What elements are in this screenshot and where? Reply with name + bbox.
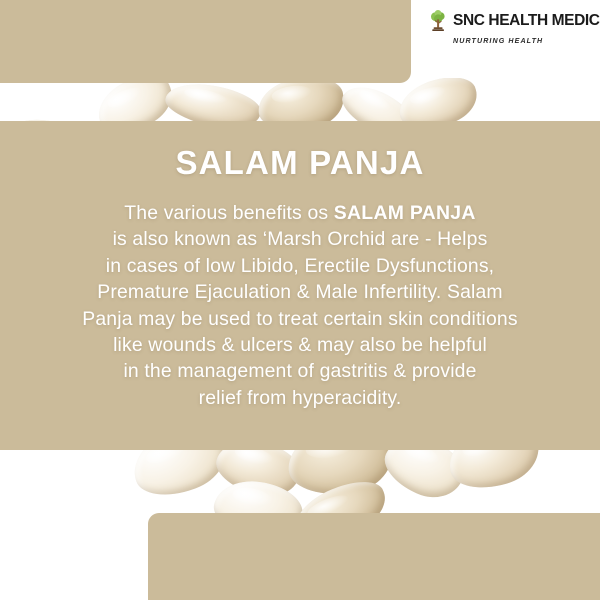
body-line: The various benefits os SALAM PANJA: [0, 200, 600, 226]
bottom-right-tan-block: [148, 513, 600, 600]
tree-icon: [428, 10, 449, 32]
logo-company-name: SNC HEALTH MEDICO®: [453, 12, 600, 29]
brand-logo: SNC HEALTH MEDICO® NURTURING HEALTH: [428, 10, 600, 48]
logo-tagline: NURTURING HEALTH: [453, 37, 543, 45]
page-title: SALAM PANJA: [0, 144, 600, 182]
logo-wordmark: SNC HEALTH MEDICO® NURTURING HEALTH: [453, 10, 600, 48]
body-line: Premature Ejaculation & Male Infertility…: [0, 279, 600, 305]
body-line: like wounds & ulcers & may also be helpf…: [0, 332, 600, 358]
top-left-tan-block: [0, 0, 411, 83]
body-paragraph: The various benefits os SALAM PANJAis al…: [0, 200, 600, 411]
body-line: in the management of gastritis & provide: [0, 358, 600, 384]
body-line: Panja may be used to treat certain skin …: [0, 306, 600, 332]
body-line: in cases of low Libido, Erectile Dysfunc…: [0, 253, 600, 279]
poster-canvas: SNC HEALTH MEDICO® NURTURING HEALTH SALA…: [0, 0, 600, 600]
body-emphasis: SALAM PANJA: [334, 202, 476, 224]
body-line: relief from hyperacidity.: [0, 385, 600, 411]
body-line: is also known as ‘Marsh Orchid are - Hel…: [0, 226, 600, 252]
